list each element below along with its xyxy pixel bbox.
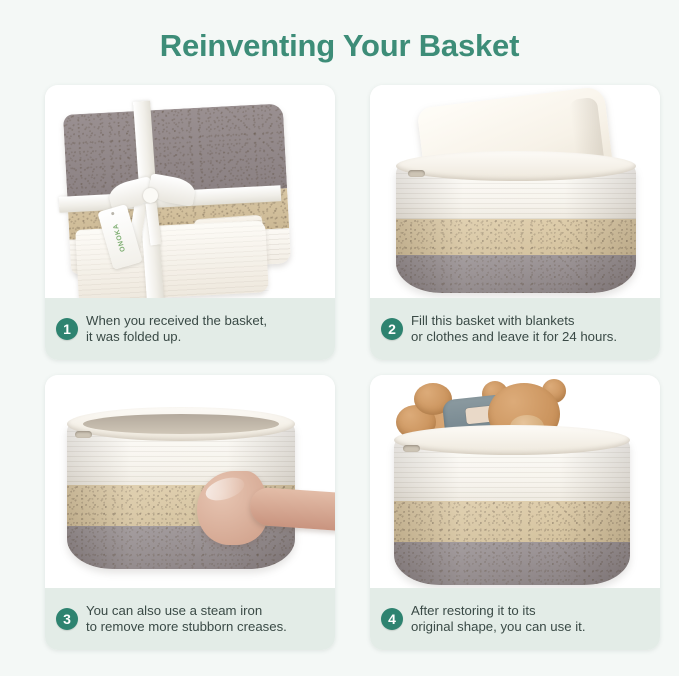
product-photo-basket-with-teddy (370, 375, 660, 588)
step-caption-3: 3 You can also use a steam iron to remov… (45, 588, 335, 650)
step-text-4: After restoring it to its original shape… (411, 603, 585, 636)
hang-tag-brand-label: ONOKA (113, 222, 128, 252)
step-text-3: You can also use a steam iron to remove … (86, 603, 287, 636)
step-caption-2: 2 Fill this basket with blankets or clot… (370, 298, 660, 360)
ribbon-bow-knot (143, 188, 158, 203)
product-photo-basket-with-pillow (370, 85, 660, 298)
basket-shading (396, 163, 636, 293)
rope-basket (394, 437, 630, 585)
step-text-2: Fill this basket with blankets or clothe… (411, 313, 617, 346)
basket-rim (394, 425, 630, 455)
rope-basket (396, 163, 636, 293)
basket-handle-left (75, 431, 92, 438)
step-caption-4: 4 After restoring it to its original sha… (370, 588, 660, 650)
step-card-1: ONOKA 1 When you received the basket, it… (45, 85, 335, 360)
step-card-3: 3 You can also use a steam iron to remov… (45, 375, 335, 650)
step-text-1: When you received the basket, it was fol… (86, 313, 267, 346)
basket-rim (67, 407, 295, 441)
basket-handle-left (408, 170, 425, 177)
step-card-2: 2 Fill this basket with blankets or clot… (370, 85, 660, 360)
steps-grid: ONOKA 1 When you received the basket, it… (45, 85, 634, 650)
basket-shading (394, 437, 630, 585)
hang-tag-hole (111, 212, 115, 216)
step-caption-1: 1 When you received the basket, it was f… (45, 298, 335, 360)
product-photo-folded-basket: ONOKA (45, 85, 335, 298)
basket-interior (83, 414, 279, 434)
product-photo-basket-with-iron (45, 375, 335, 588)
basket-handle-left (403, 445, 420, 452)
step-card-4: 4 After restoring it to its original sha… (370, 375, 660, 650)
basket-rim (396, 151, 636, 181)
page-title: Reinventing Your Basket (0, 28, 679, 64)
step-number-badge-4: 4 (381, 608, 403, 630)
step-number-badge-1: 1 (56, 318, 78, 340)
step-number-badge-3: 3 (56, 608, 78, 630)
step-number-badge-2: 2 (381, 318, 403, 340)
